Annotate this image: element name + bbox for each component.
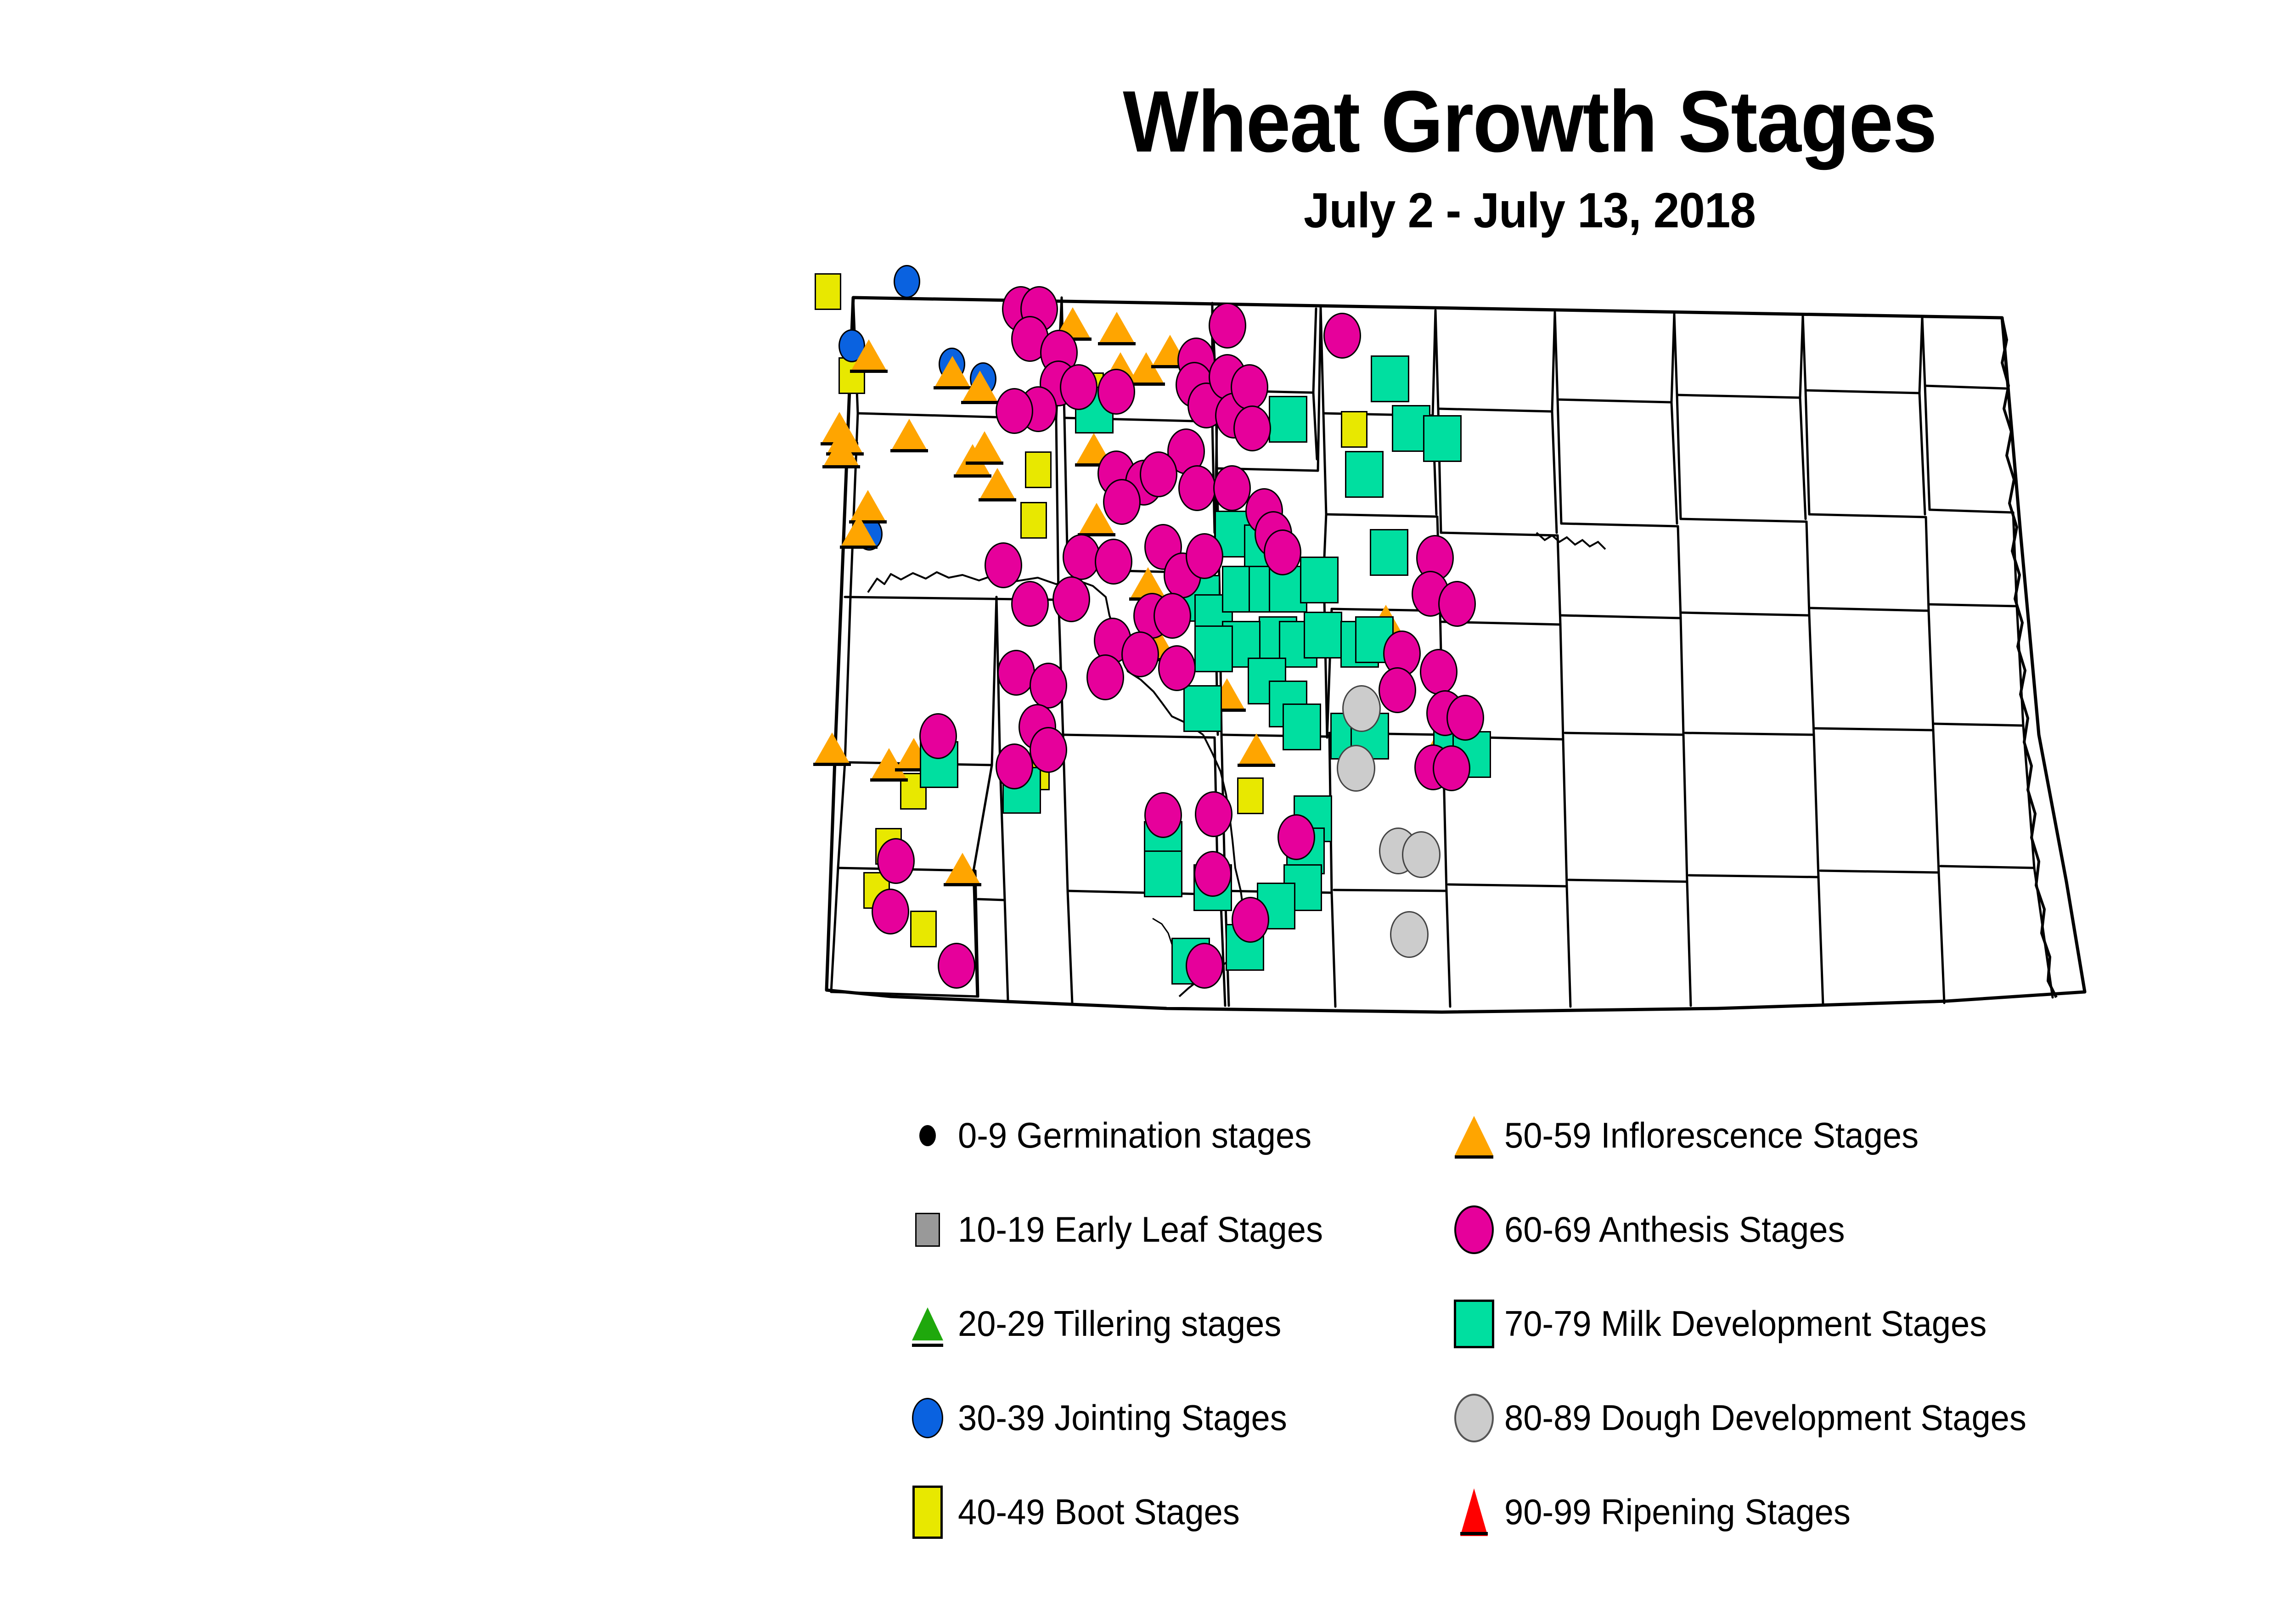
map-marker-anthesis [1121, 631, 1159, 677]
map-marker-anthesis [1231, 364, 1268, 410]
map-marker-dough [1337, 745, 1375, 792]
map-marker-anthesis [1195, 791, 1232, 837]
map-marker-anthesis [1209, 303, 1246, 349]
map-marker-milk [1304, 612, 1342, 659]
legend-item-ripening[interactable]: 90-99 Ripening Stages [1446, 1465, 2089, 1559]
map-marker-anthesis [985, 542, 1022, 588]
legend-label-ripening: 90-99 Ripening Stages [1504, 1491, 1851, 1533]
map-marker-anthesis [1232, 897, 1269, 943]
legend-swatch-tillering-icon [900, 1296, 955, 1351]
page-subtitle: July 2 - July 13, 2018 [92, 165, 2296, 235]
map-marker-anthesis [1095, 539, 1132, 585]
map-marker-anthesis [1194, 851, 1232, 897]
map-marker-anthesis [1086, 654, 1124, 700]
map-legend: 0-9 Germination stages10-19 Early Leaf S… [900, 1088, 2278, 1575]
map-marker-anthesis [1186, 533, 1223, 579]
map-marker-anthesis [1379, 667, 1416, 713]
legend-swatch-dough-icon [1446, 1390, 1502, 1446]
legend-swatch-jointing-icon [900, 1390, 955, 1446]
map-markers-layer [799, 276, 2117, 1065]
legend-label-jointing: 30-39 Jointing Stages [958, 1397, 1287, 1439]
legend-label-dough: 80-89 Dough Development Stages [1504, 1397, 2026, 1439]
legend-label-tillering: 20-29 Tillering stages [958, 1303, 1281, 1345]
map-marker-anthesis [1420, 649, 1458, 695]
map-marker-milk [1300, 557, 1339, 603]
map-marker-inflorescence [961, 369, 999, 402]
legend-label-anthesis: 60-69 Anthesis Stages [1504, 1209, 1845, 1250]
legend-swatch-ripening-icon [1446, 1485, 1502, 1540]
legend-column-right: 50-59 Inflorescence Stages60-69 Anthesis… [1446, 1088, 2089, 1559]
map-marker-anthesis [1178, 465, 1216, 511]
legend-label-germination: 0-9 Germination stages [958, 1115, 1311, 1156]
map-marker-boot [1020, 502, 1047, 539]
map-marker-inflorescence [850, 338, 888, 371]
map-marker-anthesis [1438, 581, 1476, 627]
legend-swatch-early_leaf-icon [900, 1202, 955, 1257]
map-marker-inflorescence [944, 851, 981, 884]
legend-item-anthesis[interactable]: 60-69 Anthesis Stages [1446, 1182, 2089, 1277]
map-marker-boot [1025, 451, 1052, 488]
legend-item-inflorescence[interactable]: 50-59 Inflorescence Stages [1446, 1088, 2089, 1182]
map-marker-milk [1269, 396, 1307, 443]
map-marker-inflorescence [840, 514, 878, 547]
map-marker-boot [1237, 777, 1264, 814]
map-marker-anthesis [938, 943, 975, 989]
legend-swatch-inflorescence-icon [1446, 1108, 1502, 1163]
legend-swatch-germination-icon [900, 1108, 955, 1163]
map-marker-inflorescence [979, 467, 1016, 500]
map-marker-anthesis [1277, 814, 1315, 860]
page-title: Wheat Growth Stages [122, 0, 2296, 165]
map-marker-anthesis [1186, 943, 1223, 989]
map-marker-milk [1144, 850, 1182, 897]
legend-swatch-milk-icon [1446, 1296, 1502, 1351]
map-marker-anthesis [1140, 451, 1177, 497]
legend-label-milk: 70-79 Milk Development Stages [1504, 1303, 1986, 1345]
map-marker-milk [1371, 355, 1409, 402]
map-marker-anthesis [872, 889, 909, 934]
map-marker-inflorescence [1238, 732, 1275, 765]
map-marker-dough [1390, 911, 1429, 958]
map-marker-anthesis [1233, 405, 1271, 451]
legend-swatch-anthesis-icon [1446, 1202, 1502, 1257]
legend-label-boot: 40-49 Boot Stages [958, 1491, 1240, 1533]
map-marker-anthesis [1060, 364, 1097, 410]
map-marker-inflorescence [890, 417, 928, 450]
map-marker-anthesis [1154, 593, 1191, 639]
map-marker-boot [910, 911, 937, 947]
map-marker-anthesis [1144, 792, 1182, 838]
map-container[interactable] [799, 276, 2117, 1065]
map-marker-anthesis [1103, 479, 1141, 525]
map-marker-milk [1423, 415, 1462, 462]
map-marker-anthesis [1052, 576, 1090, 622]
map-marker-anthesis [1446, 695, 1484, 741]
map-marker-inflorescence [966, 430, 1003, 463]
map-marker-milk [1183, 685, 1222, 732]
map-marker-milk [1283, 704, 1321, 750]
map-marker-anthesis [1097, 369, 1135, 415]
map-marker-boot [815, 273, 841, 310]
legend-label-early_leaf: 10-19 Early Leaf Stages [958, 1209, 1323, 1250]
map-marker-inflorescence [822, 433, 860, 467]
map-marker-inflorescence [813, 731, 851, 764]
map-marker-dough [1342, 685, 1381, 732]
map-marker-anthesis [1030, 727, 1067, 773]
map-marker-anthesis [919, 713, 957, 759]
map-marker-anthesis [1030, 663, 1067, 709]
legend-label-inflorescence: 50-59 Inflorescence Stages [1504, 1115, 1919, 1156]
map-marker-anthesis [877, 838, 915, 884]
map-marker-anthesis [996, 743, 1033, 789]
map-marker-milk [1370, 529, 1408, 576]
map-marker-anthesis [1264, 529, 1301, 575]
map-marker-boot [1341, 411, 1367, 448]
map-marker-anthesis [1433, 745, 1470, 791]
legend-item-dough[interactable]: 80-89 Dough Development Stages [1446, 1371, 2089, 1465]
map-marker-milk [1345, 451, 1384, 498]
map-marker-jointing [894, 265, 920, 298]
map-marker-anthesis [1011, 581, 1049, 627]
map-marker-milk [1194, 625, 1233, 672]
map-marker-anthesis [1323, 313, 1361, 359]
legend-swatch-boot-icon [900, 1485, 955, 1540]
title-block: Wheat Growth Stages July 2 - July 13, 20… [0, 0, 2296, 235]
map-marker-anthesis [1158, 645, 1196, 691]
map-marker-anthesis [996, 388, 1033, 434]
map-marker-inflorescence [1098, 310, 1136, 343]
map-marker-anthesis [1213, 465, 1251, 511]
map-marker-dough [1402, 831, 1441, 878]
legend-item-milk[interactable]: 70-79 Milk Development Stages [1446, 1277, 2089, 1371]
